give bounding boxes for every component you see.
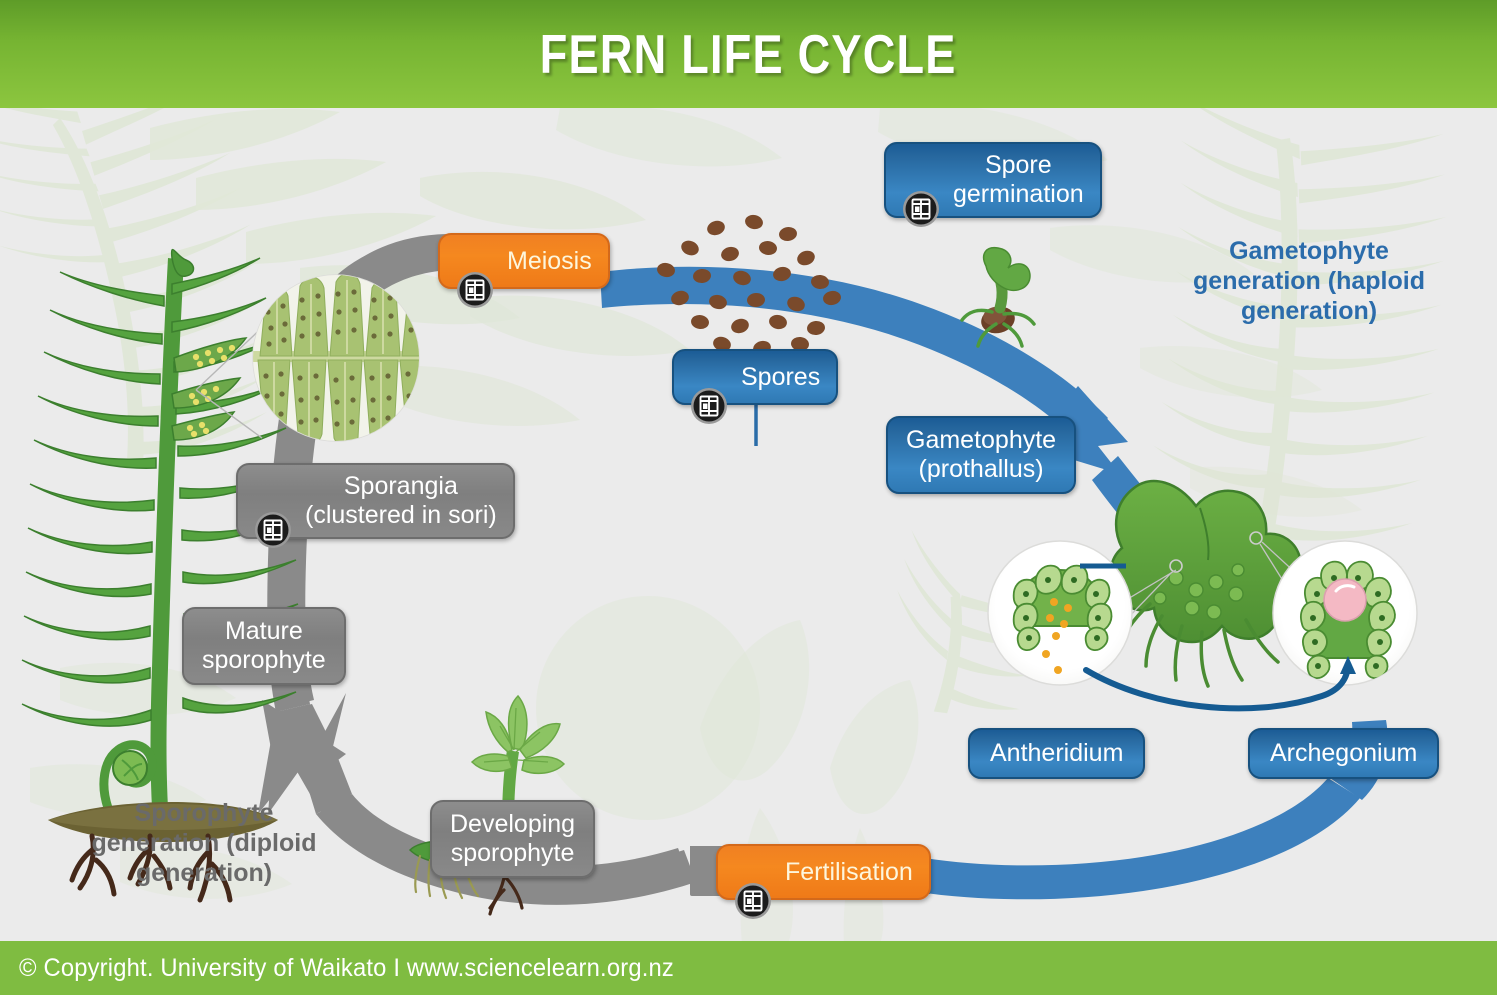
diagram-canvas: Meiosis Spores bbox=[0, 108, 1497, 941]
label-text: Developing sporophyte bbox=[450, 810, 575, 868]
diagram-header: FERN LIFE CYCLE bbox=[0, 0, 1497, 108]
label-developing-sporophyte[interactable]: Developing sporophyte bbox=[430, 800, 595, 878]
copyright-text: © Copyright. University of Waikato I www… bbox=[0, 954, 674, 983]
book-badge-icon bbox=[690, 358, 728, 396]
caption-gametophyte-generation: Gametophyte generation (haploid generati… bbox=[1184, 236, 1434, 326]
label-text: Mature sporophyte bbox=[202, 617, 326, 675]
label-mature-sporophyte[interactable]: Mature sporophyte bbox=[182, 607, 346, 685]
label-text: Meiosis bbox=[507, 247, 592, 276]
label-spores[interactable]: Spores bbox=[672, 349, 838, 405]
label-text: Archegonium bbox=[1270, 739, 1417, 768]
label-text: Sporangia (clustered in sori) bbox=[305, 472, 497, 530]
caption-sporophyte-generation: Sporophyte generation (diploid generatio… bbox=[64, 798, 344, 888]
sori-magnified-circle-illustration bbox=[196, 273, 430, 448]
antheridium-magnified-circle-illustration bbox=[988, 541, 1132, 685]
book-badge-icon bbox=[254, 482, 292, 520]
book-badge-icon bbox=[734, 853, 772, 891]
book-badge-icon bbox=[902, 161, 940, 199]
label-spore-germination[interactable]: Spore germination bbox=[884, 142, 1102, 218]
label-text: Gametophyte (prothallus) bbox=[906, 426, 1056, 484]
diagram-footer: © Copyright. University of Waikato I www… bbox=[0, 941, 1497, 995]
label-text: Spores bbox=[741, 363, 820, 392]
fern-life-cycle-diagram: FERN LIFE CYCLE bbox=[0, 0, 1497, 995]
label-text: Spore germination bbox=[953, 151, 1084, 209]
label-gametophyte-prothallus[interactable]: Gametophyte (prothallus) bbox=[886, 416, 1076, 494]
label-meiosis[interactable]: Meiosis bbox=[438, 233, 610, 289]
label-text: Fertilisation bbox=[785, 858, 913, 887]
label-text: Antheridium bbox=[990, 739, 1123, 768]
label-antheridium[interactable]: Antheridium bbox=[968, 728, 1145, 779]
label-sporangia[interactable]: Sporangia (clustered in sori) bbox=[236, 463, 515, 539]
label-archegonium[interactable]: Archegonium bbox=[1248, 728, 1439, 779]
label-fertilisation[interactable]: Fertilisation bbox=[716, 844, 931, 900]
page-title: FERN LIFE CYCLE bbox=[540, 22, 957, 86]
book-badge-icon bbox=[456, 242, 494, 280]
